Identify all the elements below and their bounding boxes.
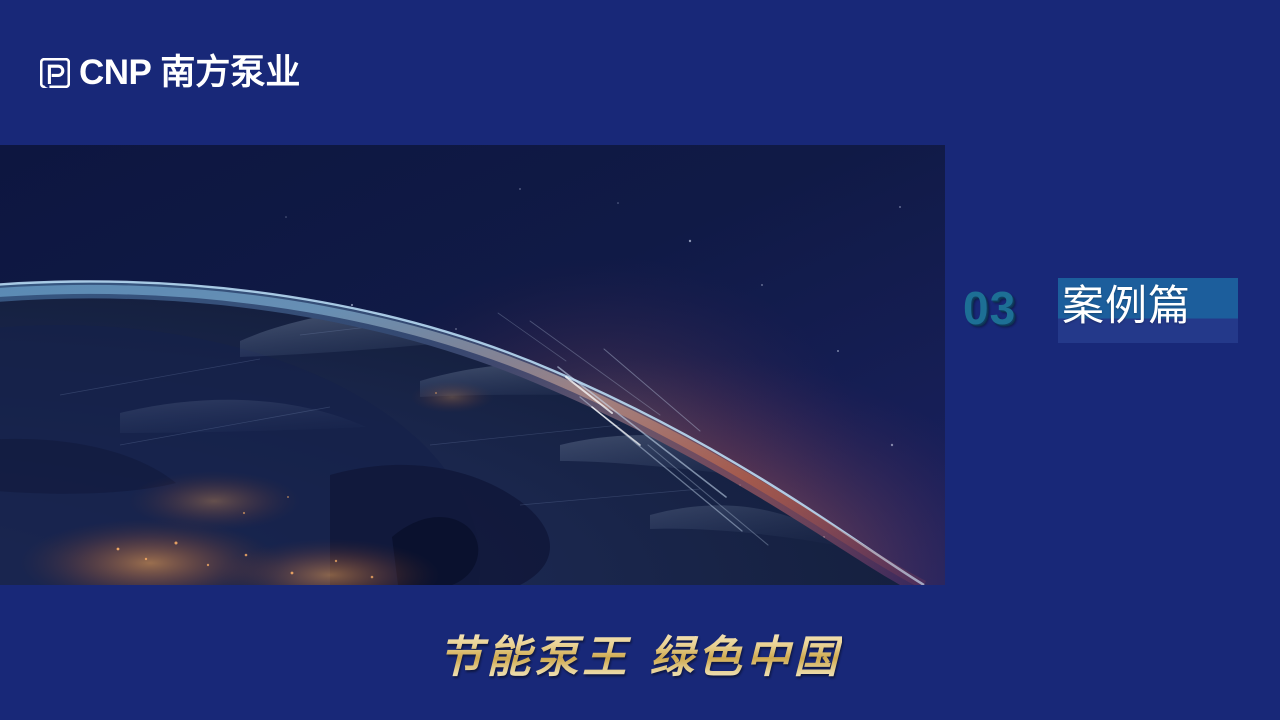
section-heading-block: 03 案例篇: [945, 145, 1280, 585]
brand-logo: CNP南方泵业: [40, 55, 300, 90]
brand-logo-text: CNP南方泵业: [79, 55, 300, 90]
earth-from-space-photo: [0, 145, 945, 585]
slide-footer: 节能泵王 绿色中国: [0, 585, 1280, 720]
footer-slogan-wrap: 节能泵王 绿色中国: [0, 585, 1280, 720]
cnp-logo-mark-icon: [40, 58, 70, 88]
footer-slogan: 节能泵王 绿色中国: [438, 621, 841, 685]
section-title: 案例篇: [1062, 273, 1242, 339]
brand-chinese-label: 南方泵业: [160, 53, 300, 92]
slide-root: CNP南方泵业: [0, 0, 1280, 720]
slide-header: CNP南方泵业: [0, 0, 1280, 145]
section-number: 03: [963, 285, 1016, 331]
brand-latin-label: CNP: [79, 53, 151, 92]
